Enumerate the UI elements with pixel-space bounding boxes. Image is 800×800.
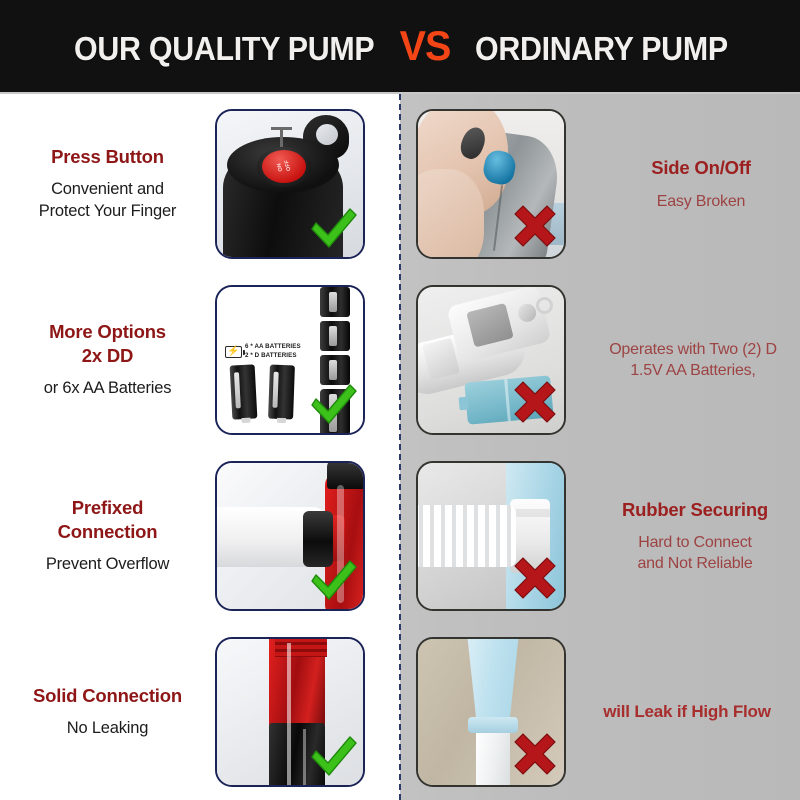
drawback-title: Rubber Securing bbox=[598, 498, 792, 521]
feature-title-line1: More Options bbox=[6, 320, 209, 343]
drawback-subtitle-line2: and Not Reliable bbox=[598, 553, 792, 574]
text-block-prefixed-connection: Prefixed Connection Prevent Overflow bbox=[0, 496, 215, 576]
row-3-right: Rubber Securing Hard to Connect and Not … bbox=[400, 448, 800, 624]
text-block-rubber-securing: Rubber Securing Hard to Connect and Not … bbox=[592, 498, 798, 575]
cell-leak-high-flow: will Leak if High Flow bbox=[400, 624, 800, 800]
left-column-quality-pump: Press Button Convenient and Protect Your… bbox=[0, 94, 400, 800]
check-mark-icon bbox=[306, 377, 360, 431]
row-2-right: Operates with Two (2) D 1.5V AA Batterie… bbox=[400, 272, 800, 448]
header-bar: OUR QUALITY PUMP VS ORDINARY PUMP bbox=[0, 0, 800, 94]
cross-mark-icon bbox=[511, 554, 559, 602]
cross-mark-icon bbox=[511, 202, 559, 250]
row-3-left: Prefixed Connection Prevent Overflow bbox=[0, 448, 400, 624]
photo-card-press-button: ONOFF bbox=[215, 109, 365, 259]
row-2-left: More Options 2x DD or 6x AA Batteries ⚡ … bbox=[0, 272, 400, 448]
photo-card-two-d-batteries bbox=[416, 285, 566, 435]
cross-mark-icon bbox=[511, 378, 559, 426]
battery-label-line1: 6 * AA BATTERIES bbox=[245, 343, 301, 352]
row-1-left: Press Button Convenient and Protect Your… bbox=[0, 96, 400, 272]
header-right-title: ORDINARY PUMP bbox=[475, 30, 728, 68]
battery-label-text: 6 * AA BATTERIES 2 * D BATTERIES bbox=[245, 343, 301, 361]
feature-subtitle-line1: Prevent Overflow bbox=[6, 554, 209, 576]
center-divider bbox=[399, 94, 401, 800]
feature-title: Press Button bbox=[6, 145, 209, 168]
photo-card-rubber-securing bbox=[416, 461, 566, 611]
battery-label: ⚡ 6 * AA BATTERIES 2 * D BATTERIES bbox=[225, 343, 321, 361]
row-1-right: Side On/Off Easy Broken bbox=[400, 96, 800, 272]
drawback-subtitle-line1: Hard to Connect bbox=[598, 532, 792, 553]
row-4-left: Solid Connection No Leaking bbox=[0, 624, 400, 800]
drawback-subtitle-line1: Operates with Two (2) D bbox=[592, 339, 794, 360]
check-mark-icon bbox=[306, 201, 360, 255]
photo-card-leak-high-flow bbox=[416, 637, 566, 787]
cell-press-button: Press Button Convenient and Protect Your… bbox=[0, 96, 400, 272]
infographic-page: OUR QUALITY PUMP VS ORDINARY PUMP Press … bbox=[0, 0, 800, 800]
drawback-subtitle-line1: will Leak if High Flow bbox=[580, 701, 794, 724]
header-title-group: OUR QUALITY PUMP VS ORDINARY PUMP bbox=[61, 22, 738, 70]
check-mark-icon bbox=[306, 553, 360, 607]
text-block-solid-connection: Solid Connection No Leaking bbox=[0, 684, 215, 740]
drawback-subtitle-line2: 1.5V AA Batteries, bbox=[592, 360, 794, 381]
header-left-title: OUR QUALITY PUMP bbox=[74, 30, 374, 68]
feature-title-line2: Connection bbox=[6, 520, 209, 543]
cell-rubber-securing: Rubber Securing Hard to Connect and Not … bbox=[400, 448, 800, 624]
feature-subtitle-line2: Protect Your Finger bbox=[6, 201, 209, 223]
text-block-leak-high-flow: will Leak if High Flow bbox=[574, 701, 800, 724]
feature-title: Solid Connection bbox=[6, 684, 209, 707]
feature-subtitle-line1: No Leaking bbox=[6, 718, 209, 740]
text-block-more-options: More Options 2x DD or 6x AA Batteries bbox=[0, 320, 215, 400]
drawback-title: Side On/Off bbox=[608, 156, 794, 179]
text-block-press-button: Press Button Convenient and Protect Your… bbox=[0, 145, 215, 223]
header-vs-label: VS bbox=[399, 22, 450, 70]
drawback-subtitle-line1: Easy Broken bbox=[608, 191, 794, 212]
cell-two-d-batteries: Operates with Two (2) D 1.5V AA Batterie… bbox=[400, 272, 800, 448]
cell-solid-connection: Solid Connection No Leaking bbox=[0, 624, 400, 800]
check-mark-icon bbox=[306, 729, 360, 783]
cell-more-options: More Options 2x DD or 6x AA Batteries ⚡ … bbox=[0, 272, 400, 448]
feature-title-line1: Prefixed bbox=[6, 496, 209, 519]
feature-title-line2: 2x DD bbox=[6, 344, 209, 367]
text-block-side-onoff: Side On/Off Easy Broken bbox=[602, 156, 800, 212]
photo-card-battery-options: ⚡ 6 * AA BATTERIES 2 * D BATTERIES bbox=[215, 285, 365, 435]
cross-mark-icon bbox=[511, 730, 559, 778]
row-4-right: will Leak if High Flow bbox=[400, 624, 800, 800]
right-column-ordinary-pump: Side On/Off Easy Broken bbox=[400, 94, 800, 800]
feature-subtitle-line1: Convenient and bbox=[6, 179, 209, 201]
cell-side-onoff: Side On/Off Easy Broken bbox=[400, 96, 800, 272]
battery-bolt-icon: ⚡ bbox=[225, 346, 242, 358]
text-block-two-d-batteries: Operates with Two (2) D 1.5V AA Batterie… bbox=[586, 339, 800, 382]
feature-subtitle-line1: or 6x AA Batteries bbox=[6, 378, 209, 400]
photo-card-side-onoff bbox=[416, 109, 566, 259]
cell-prefixed-connection: Prefixed Connection Prevent Overflow bbox=[0, 448, 400, 624]
battery-label-line2: 2 * D BATTERIES bbox=[245, 352, 301, 361]
comparison-body: Press Button Convenient and Protect Your… bbox=[0, 94, 800, 800]
photo-card-solid-connection bbox=[215, 637, 365, 787]
photo-card-prefixed-connection bbox=[215, 461, 365, 611]
